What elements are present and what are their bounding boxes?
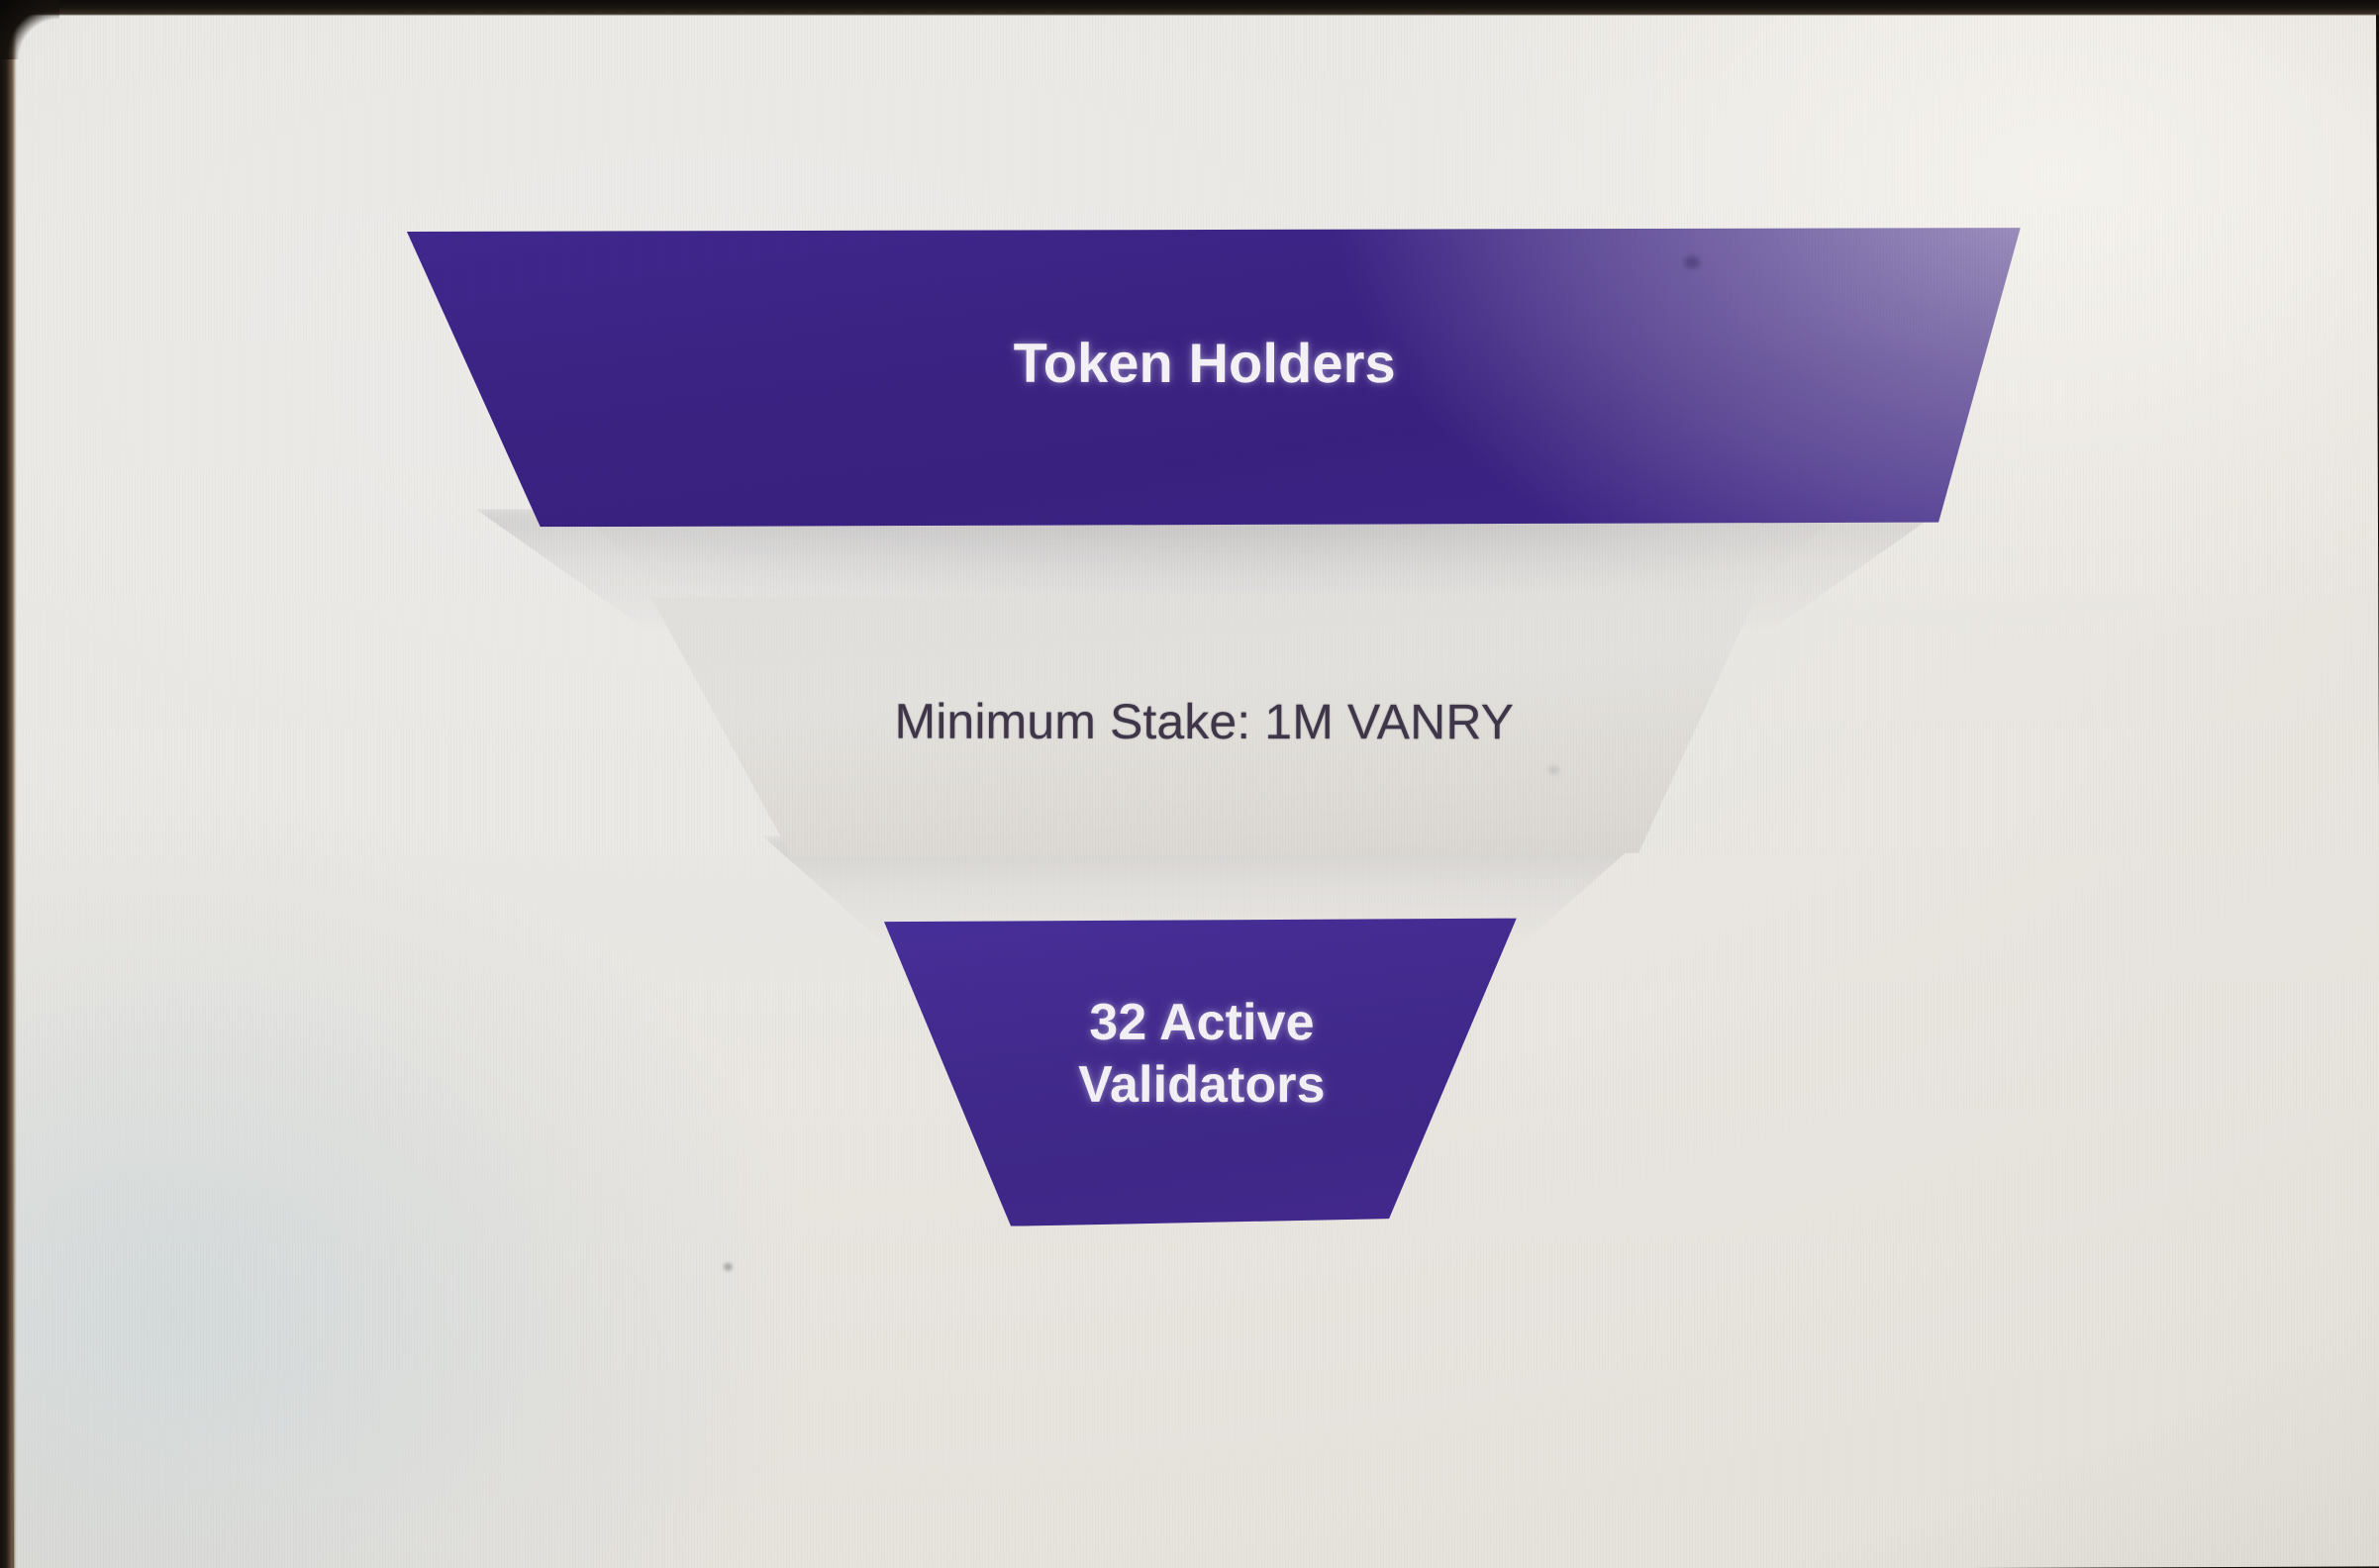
funnel-tier-token-holders[interactable]: Token Holders bbox=[389, 220, 2021, 529]
funnel-tier-token-holders-label: Token Holders bbox=[389, 220, 2021, 529]
funnel-tier-minimum-stake-label: Minimum Stake: 1M VANRY bbox=[640, 586, 1768, 862]
monitor-panel: Token Holders Minimum Stake: 1M VANRY 32… bbox=[8, 4, 2379, 1568]
validator-funnel-diagram: Token Holders Minimum Stake: 1M VANRY 32… bbox=[9, 8, 2379, 1568]
screen-photograph: Token Holders Minimum Stake: 1M VANRY 32… bbox=[0, 0, 2379, 1568]
funnel-tier-active-validators-label-line1: 32 Active bbox=[1089, 991, 1314, 1054]
funnel-tier-active-validators-label-line2: Validators bbox=[1078, 1054, 1326, 1118]
funnel-tier-active-validators[interactable]: 32 Active Validators bbox=[867, 908, 1536, 1227]
funnel-tier-minimum-stake[interactable]: Minimum Stake: 1M VANRY bbox=[640, 586, 1768, 862]
funnel-tier-active-validators-label: 32 Active Validators bbox=[867, 908, 1536, 1227]
